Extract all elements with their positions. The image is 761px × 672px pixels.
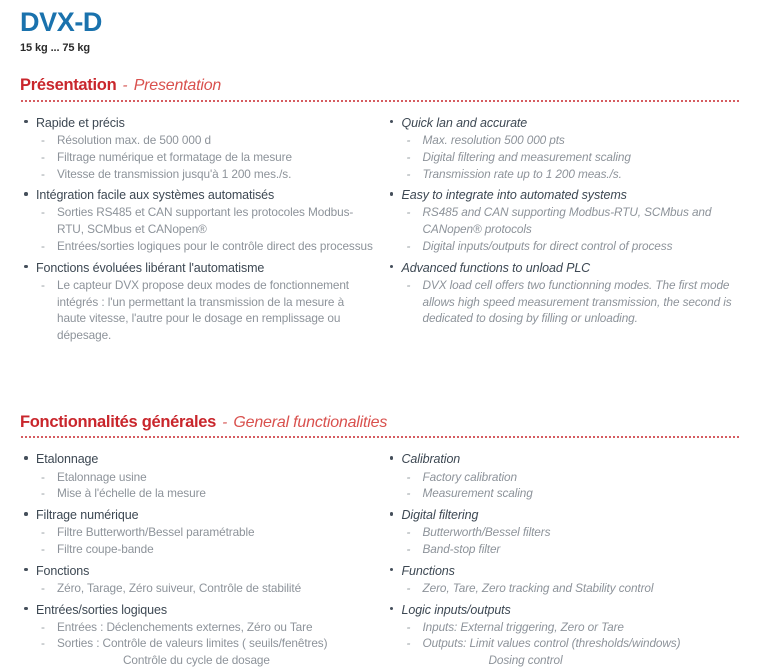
bullet-dot-icon (24, 456, 28, 460)
sub-list-item: -Entrées/sorties logiques pour le contrô… (36, 238, 376, 255)
bullet-label: Rapide et précis (36, 114, 376, 132)
section-title-en: Presentation (134, 77, 221, 94)
bullet-label: Easy to integrate into automated systems (402, 186, 742, 204)
sub-list: -Entrées : Déclenchements externes, Zéro… (36, 619, 376, 669)
sub-list-item-text: Entrées : Déclenchements externes, Zéro … (57, 619, 376, 636)
sub-list-item: -Zero, Tare, Zero tracking and Stability… (402, 580, 742, 597)
sub-list-item: -Mise à l'échelle de la mesure (36, 485, 376, 502)
sub-list-item-text: Le capteur DVX propose deux modes de fon… (57, 277, 376, 344)
bullet-dot-icon (390, 265, 394, 269)
bullet-label: Fonctions évoluées libérant l'automatism… (36, 259, 376, 277)
bullet-dot-icon (390, 120, 394, 124)
sub-list-item: -Filtre Butterworth/Bessel paramétrable (36, 524, 376, 541)
dash-marker-icon: - (407, 132, 411, 149)
dash-marker-icon: - (41, 524, 45, 541)
list-item: Digital filtering-Butterworth/Bessel fil… (386, 506, 742, 558)
sub-list-item: -Vitesse de transmission jusqu'à 1 200 m… (36, 166, 376, 183)
section-title-en: General functionalities (233, 414, 387, 431)
sub-list-item-text: Inputs: External triggering, Zero or Tar… (423, 619, 742, 636)
section-title-fr: Présentation (20, 76, 116, 94)
sub-list: -DVX load cell offers two functionning m… (402, 277, 742, 327)
sub-list-item: -Transmission rate up to 1 200 meas./s. (402, 166, 742, 183)
section-divider (20, 436, 741, 438)
dash-marker-icon: - (407, 149, 411, 166)
sub-list-item-text: Filtrage numérique et formatage de la me… (57, 149, 376, 166)
dash-marker-icon: - (41, 469, 45, 486)
sub-list: -Le capteur DVX propose deux modes de fo… (36, 277, 376, 344)
sub-list-item-text: DVX load cell offers two functionning mo… (423, 277, 742, 327)
sub-list-item-text: Zero, Tare, Zero tracking and Stability … (423, 580, 742, 597)
dash-marker-icon: - (41, 485, 45, 502)
sub-list: -Butterworth/Bessel filters-Band-stop fi… (402, 524, 742, 558)
dash-marker-icon: - (407, 469, 411, 486)
list-item: Entrées/sorties logiques-Entrées : Décle… (20, 601, 376, 669)
section-title-separator: - (116, 77, 133, 94)
page-title: DVX-D (20, 8, 741, 36)
dash-marker-icon: - (407, 524, 411, 541)
bullet-dot-icon (390, 456, 394, 460)
bullet-label: Fonctions (36, 562, 376, 580)
sub-list-item-text: Filtre coupe-bande (57, 541, 376, 558)
bullet-dot-icon (24, 120, 28, 124)
sub-list: -Zero, Tare, Zero tracking and Stability… (402, 580, 742, 597)
list-item: Quick lan and accurate-Max. resolution 5… (386, 114, 742, 182)
sub-list-item-text: Zéro, Tarage, Zéro suiveur, Contrôle de … (57, 580, 376, 597)
list-item: Fonctions évoluées libérant l'automatism… (20, 259, 376, 344)
section-title-fr: Fonctionnalités générales (20, 413, 216, 431)
list-item: Logic inputs/outputs-Inputs: External tr… (386, 601, 742, 669)
sub-list-item-text: Butterworth/Bessel filters (423, 524, 742, 541)
sub-list-item: -DVX load cell offers two functionning m… (402, 277, 742, 327)
section-columns: Rapide et précis-Résolution max. de 500 … (20, 114, 741, 347)
dash-marker-icon: - (41, 580, 45, 597)
sub-list-item: -Etalonnage usine (36, 469, 376, 486)
section-divider (20, 100, 741, 102)
sub-list-item-text: Max. resolution 500 000 pts (423, 132, 742, 149)
dash-marker-icon: - (407, 204, 411, 221)
sub-list-item: -RS485 and CAN supporting Modbus-RTU, SC… (402, 204, 742, 238)
bullet-dot-icon (390, 607, 394, 611)
dash-marker-icon: - (407, 485, 411, 502)
sub-list: -Factory calibration-Measurement scaling (402, 469, 742, 503)
section-title-separator: - (216, 414, 233, 431)
sub-list: -RS485 and CAN supporting Modbus-RTU, SC… (402, 204, 742, 254)
dash-marker-icon: - (41, 619, 45, 636)
list-item: Etalonnage-Etalonnage usine-Mise à l'éch… (20, 450, 376, 502)
bullet-label: Logic inputs/outputs (402, 601, 742, 619)
sub-list: -Max. resolution 500 000 pts-Digital fil… (402, 132, 742, 182)
bullet-list-left: Rapide et précis-Résolution max. de 500 … (20, 114, 376, 344)
sub-list: -Sorties RS485 et CAN supportant les pro… (36, 204, 376, 254)
column-english: Calibration-Factory calibration-Measurem… (386, 450, 742, 672)
bullet-list-right: Calibration-Factory calibration-Measurem… (386, 450, 742, 669)
dash-marker-icon: - (407, 238, 411, 255)
sub-list: -Résolution max. de 500 000 d-Filtrage n… (36, 132, 376, 182)
sub-list-item-text: Sorties RS485 et CAN supportant les prot… (57, 204, 376, 238)
sub-list-item-text: Digital inputs/outputs for direct contro… (423, 238, 742, 255)
list-item: Filtrage numérique-Filtre Butterworth/Be… (20, 506, 376, 558)
dash-marker-icon: - (407, 277, 411, 294)
bullet-label: Filtrage numérique (36, 506, 376, 524)
list-item: Intégration facile aux systèmes automati… (20, 186, 376, 254)
section-columns: Etalonnage-Etalonnage usine-Mise à l'éch… (20, 450, 741, 672)
list-item: Calibration-Factory calibration-Measurem… (386, 450, 742, 502)
sub-list-item-text: Mise à l'échelle de la mesure (57, 485, 376, 502)
dash-marker-icon: - (407, 166, 411, 183)
sub-list-item: -Entrées : Déclenchements externes, Zéro… (36, 619, 376, 636)
bullet-dot-icon (24, 512, 28, 516)
bullet-dot-icon (390, 568, 394, 572)
dash-marker-icon: - (41, 238, 45, 255)
sub-list-item-text: Vitesse de transmission jusqu'à 1 200 me… (57, 166, 376, 183)
sub-list-item: -Résolution max. de 500 000 d (36, 132, 376, 149)
sub-list-item: -Sorties : Contrôle de valeurs limites (… (36, 635, 376, 669)
bullet-list-left: Etalonnage-Etalonnage usine-Mise à l'éch… (20, 450, 376, 669)
column-english: Quick lan and accurate-Max. resolution 5… (386, 114, 742, 347)
column-french: Etalonnage-Etalonnage usine-Mise à l'éch… (20, 450, 376, 672)
document-header: DVX-D 15 kg ... 75 kg (20, 0, 741, 54)
section-heading: Fonctionnalités générales - General func… (20, 413, 741, 435)
sub-list-item: -Max. resolution 500 000 pts (402, 132, 742, 149)
list-item: Easy to integrate into automated systems… (386, 186, 742, 254)
bullet-dot-icon (24, 607, 28, 611)
bullet-label: Intégration facile aux systèmes automati… (36, 186, 376, 204)
sub-list-item: -Inputs: External triggering, Zero or Ta… (402, 619, 742, 636)
sub-list-item-continuation: Contrôle du cycle de dosage (57, 652, 376, 669)
bullet-dot-icon (24, 192, 28, 196)
list-item: Functions-Zero, Tare, Zero tracking and … (386, 562, 742, 597)
section-spacer (20, 347, 741, 391)
sub-list: -Etalonnage usine-Mise à l'échelle de la… (36, 469, 376, 503)
sub-list-item-text: Band-stop filter (423, 541, 742, 558)
bullet-dot-icon (24, 568, 28, 572)
bullet-label: Entrées/sorties logiques (36, 601, 376, 619)
dash-marker-icon: - (41, 541, 45, 558)
section-heading: Présentation - Presentation (20, 76, 741, 98)
sub-list-item: -Butterworth/Bessel filters (402, 524, 742, 541)
sub-list-item: -Zéro, Tarage, Zéro suiveur, Contrôle de… (36, 580, 376, 597)
bullet-label: Functions (402, 562, 742, 580)
list-item: Rapide et précis-Résolution max. de 500 … (20, 114, 376, 182)
sub-list-item-text: Measurement scaling (423, 485, 742, 502)
sections-container: Présentation - PresentationRapide et pré… (20, 76, 741, 672)
bullet-list-right: Quick lan and accurate-Max. resolution 5… (386, 114, 742, 327)
dash-marker-icon: - (41, 166, 45, 183)
dash-marker-icon: - (41, 132, 45, 149)
sub-list-item-text: Filtre Butterworth/Bessel paramétrable (57, 524, 376, 541)
sub-list: -Filtre Butterworth/Bessel paramétrable-… (36, 524, 376, 558)
bullet-label: Calibration (402, 450, 742, 468)
bullet-label: Digital filtering (402, 506, 742, 524)
bullet-label: Quick lan and accurate (402, 114, 742, 132)
sub-list-item: -Digital filtering and measurement scali… (402, 149, 742, 166)
capacity-range-label: 15 kg ... 75 kg (20, 42, 741, 54)
sub-list-item: -Factory calibration (402, 469, 742, 486)
sub-list-item: -Digital inputs/outputs for direct contr… (402, 238, 742, 255)
column-french: Rapide et précis-Résolution max. de 500 … (20, 114, 376, 347)
section: Fonctionnalités générales - General func… (20, 413, 741, 672)
datasheet-page: DVX-D 15 kg ... 75 kg Présentation - Pre… (0, 0, 761, 650)
sub-list-item-text: Transmission rate up to 1 200 meas./s. (423, 166, 742, 183)
sub-list: -Zéro, Tarage, Zéro suiveur, Contrôle de… (36, 580, 376, 597)
dash-marker-icon: - (41, 149, 45, 166)
sub-list-item-text: Résolution max. de 500 000 d (57, 132, 376, 149)
dash-marker-icon: - (407, 580, 411, 597)
sub-list-item-text: Entrées/sorties logiques pour le contrôl… (57, 238, 376, 255)
bullet-label: Advanced functions to unload PLC (402, 259, 742, 277)
sub-list-item: -Outputs: Limit values control (threshol… (402, 635, 742, 669)
section: Présentation - PresentationRapide et pré… (20, 76, 741, 346)
bullet-dot-icon (390, 192, 394, 196)
sub-list-item: -Filtrage numérique et formatage de la m… (36, 149, 376, 166)
sub-list-item-continuation: Dosing control (423, 652, 742, 669)
bullet-dot-icon (390, 512, 394, 516)
sub-list-item-text: RS485 and CAN supporting Modbus-RTU, SCM… (423, 204, 742, 238)
sub-list-item-text: Digital filtering and measurement scalin… (423, 149, 742, 166)
dash-marker-icon: - (407, 619, 411, 636)
sub-list-item: -Le capteur DVX propose deux modes de fo… (36, 277, 376, 344)
sub-list-item: -Sorties RS485 et CAN supportant les pro… (36, 204, 376, 238)
list-item: Fonctions-Zéro, Tarage, Zéro suiveur, Co… (20, 562, 376, 597)
dash-marker-icon: - (407, 541, 411, 558)
dash-marker-icon: - (41, 277, 45, 294)
bullet-dot-icon (24, 265, 28, 269)
sub-list-item: -Filtre coupe-bande (36, 541, 376, 558)
sub-list-item: -Measurement scaling (402, 485, 742, 502)
dash-marker-icon: - (41, 204, 45, 221)
bullet-label: Etalonnage (36, 450, 376, 468)
list-item: Advanced functions to unload PLC-DVX loa… (386, 259, 742, 327)
sub-list-item-text: Etalonnage usine (57, 469, 376, 486)
sub-list-item-text: Factory calibration (423, 469, 742, 486)
sub-list-item: -Band-stop filter (402, 541, 742, 558)
sub-list: -Inputs: External triggering, Zero or Ta… (402, 619, 742, 669)
